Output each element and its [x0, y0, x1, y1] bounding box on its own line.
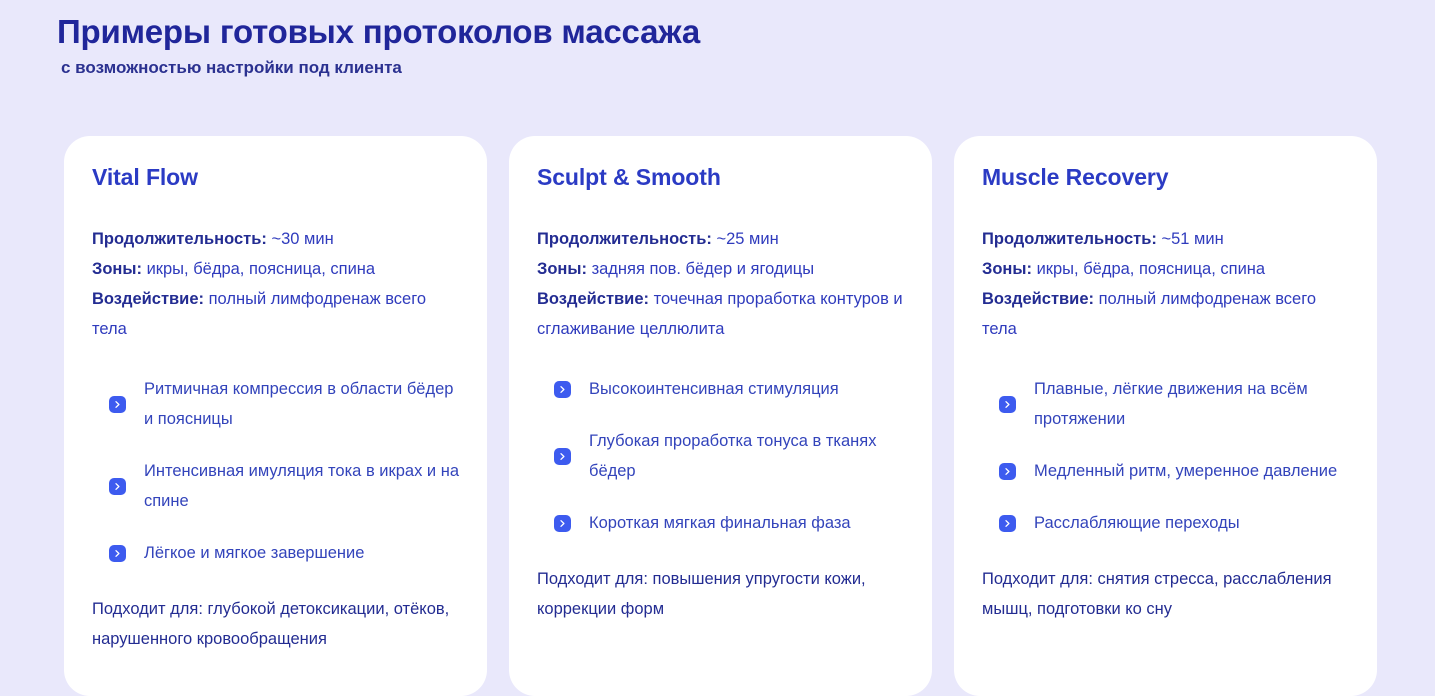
chevron-right-icon [999, 463, 1016, 480]
meta-label: Зоны: [92, 260, 142, 278]
meta-line-effect: Воздействие: полный лимфодренаж всего те… [982, 284, 1349, 344]
feature-text: Высокоинтенсивная стимуляция [589, 374, 839, 404]
feature-text: Расслабляющие переходы [1034, 508, 1240, 538]
meta-line-effect: Воздействие: полный лимфодренаж всего те… [92, 284, 459, 344]
meta-value: задняя пов. бёдер и ягодицы [592, 260, 815, 278]
meta-label: Продолжительность: [92, 230, 267, 248]
meta-value: ~25 мин [716, 230, 778, 248]
meta-label: Продолжительность: [537, 230, 712, 248]
meta-value: икры, бёдра, поясница, спина [1037, 260, 1266, 278]
meta-label: Зоны: [982, 260, 1032, 278]
feature-text: Короткая мягкая финальная фаза [589, 508, 851, 538]
protocol-card-vital-flow[interactable]: Vital Flow Продолжительность: ~30 мин Зо… [64, 136, 487, 696]
list-item: Высокоинтенсивная стимуляция [537, 374, 904, 404]
meta-line-zones: Зоны: икры, бёдра, поясница, спина [982, 254, 1349, 284]
list-item: Медленный ритм, умеренное давление [982, 456, 1349, 486]
meta-line-zones: Зоны: икры, бёдра, поясница, спина [92, 254, 459, 284]
feature-text: Плавные, лёгкие движения на всём протяже… [1034, 374, 1349, 434]
meta-value: икры, бёдра, поясница, спина [147, 260, 376, 278]
chevron-right-icon [554, 448, 571, 465]
protocols-section: Примеры готовых протоколов массажа с воз… [0, 0, 1435, 673]
meta-label: Продолжительность: [982, 230, 1157, 248]
card-meta: Продолжительность: ~25 мин Зоны: задняя … [537, 224, 904, 344]
list-item: Лёгкое и мягкое завершение [92, 538, 459, 568]
feature-text: Глубокая проработка тонуса в тканях бёде… [589, 426, 904, 486]
chevron-right-icon [554, 515, 571, 532]
card-meta: Продолжительность: ~30 мин Зоны: икры, б… [92, 224, 459, 344]
meta-line-duration: Продолжительность: ~25 мин [537, 224, 904, 254]
suited-for-text: Подходит для: повышения упругости кожи, … [537, 564, 897, 624]
card-title: Muscle Recovery [982, 162, 1349, 192]
chevron-right-icon [999, 396, 1016, 413]
protocol-card-sculpt-smooth[interactable]: Sculpt & Smooth Продолжительность: ~25 м… [509, 136, 932, 696]
list-item: Короткая мягкая финальная фаза [537, 508, 904, 538]
chevron-right-icon [109, 396, 126, 413]
feature-text: Медленный ритм, умеренное давление [1034, 456, 1337, 486]
list-item: Расслабляющие переходы [982, 508, 1349, 538]
section-header: Примеры готовых протоколов массажа с воз… [0, 0, 1435, 80]
protocol-cards-row: Vital Flow Продолжительность: ~30 мин Зо… [64, 136, 1378, 696]
meta-line-zones: Зоны: задняя пов. бёдер и ягодицы [537, 254, 904, 284]
meta-value: ~51 мин [1161, 230, 1223, 248]
meta-line-effect: Воздействие: точечная проработка контуро… [537, 284, 904, 344]
meta-value: ~30 мин [271, 230, 333, 248]
feature-list: Плавные, лёгкие движения на всём протяже… [982, 374, 1349, 538]
feature-text: Лёгкое и мягкое завершение [144, 538, 364, 568]
page-title: Примеры готовых протоколов массажа [57, 10, 1435, 54]
list-item: Плавные, лёгкие движения на всём протяже… [982, 374, 1349, 434]
protocol-card-muscle-recovery[interactable]: Muscle Recovery Продолжительность: ~51 м… [954, 136, 1377, 696]
meta-label: Воздействие: [92, 290, 204, 308]
chevron-right-icon [554, 381, 571, 398]
feature-text: Интенсивная имуляция тока в икрах и на с… [144, 456, 459, 516]
feature-list: Высокоинтенсивная стимуляция Глубокая пр… [537, 374, 904, 538]
chevron-right-icon [109, 545, 126, 562]
chevron-right-icon [999, 515, 1016, 532]
meta-label: Зоны: [537, 260, 587, 278]
list-item: Ритмичная компрессия в области бёдер и п… [92, 374, 459, 434]
meta-line-duration: Продолжительность: ~30 мин [92, 224, 459, 254]
feature-list: Ритмичная компрессия в области бёдер и п… [92, 374, 459, 568]
card-meta: Продолжительность: ~51 мин Зоны: икры, б… [982, 224, 1349, 344]
page-subtitle: с возможностью настройки под клиента [61, 56, 1435, 80]
suited-for-text: Подходит для: глубокой детоксикации, отё… [92, 594, 452, 654]
card-title: Sculpt & Smooth [537, 162, 904, 192]
list-item: Интенсивная имуляция тока в икрах и на с… [92, 456, 459, 516]
chevron-right-icon [109, 478, 126, 495]
list-item: Глубокая проработка тонуса в тканях бёде… [537, 426, 904, 486]
meta-line-duration: Продолжительность: ~51 мин [982, 224, 1349, 254]
feature-text: Ритмичная компрессия в области бёдер и п… [144, 374, 459, 434]
suited-for-text: Подходит для: снятия стресса, расслаблен… [982, 564, 1342, 624]
meta-label: Воздействие: [537, 290, 649, 308]
meta-label: Воздействие: [982, 290, 1094, 308]
card-title: Vital Flow [92, 162, 459, 192]
